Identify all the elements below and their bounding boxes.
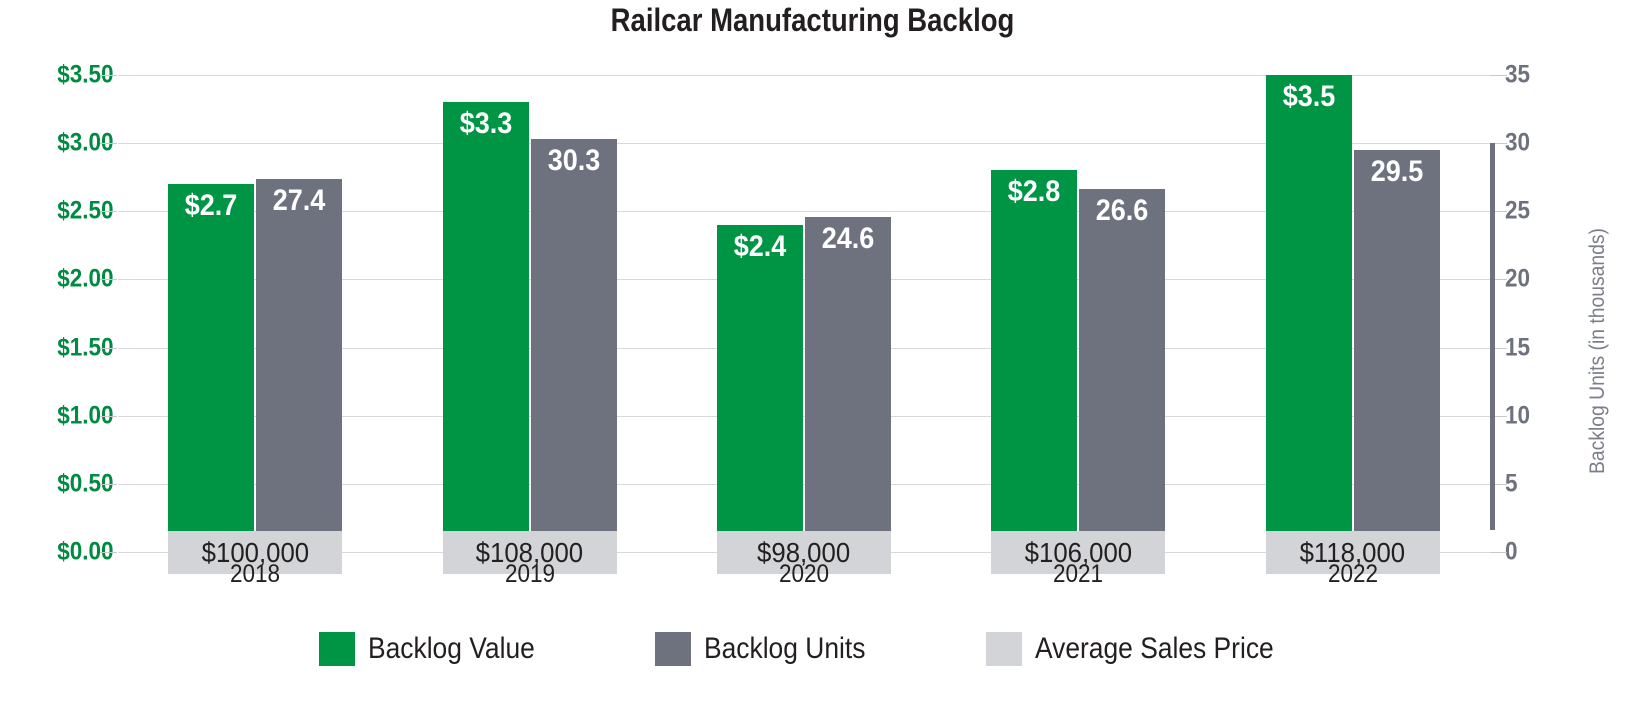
legend-item[interactable]: Backlog Units — [655, 632, 887, 666]
right-axis-tick-label: 10 — [1505, 401, 1530, 430]
legend-swatch-icon — [319, 632, 355, 666]
x-axis-label-2021: 2021 — [1015, 560, 1141, 589]
bar-group: $3.529.5 — [118, 75, 1490, 552]
right-axis-tick-label: 20 — [1505, 265, 1530, 294]
chart-legend: Backlog ValueBacklog UnitsAverage Sales … — [0, 632, 1625, 666]
chart-title: Railcar Manufacturing Backlog — [114, 2, 1512, 39]
bar-value-label: 29.5 — [1358, 156, 1435, 188]
right-axis-tick-label: 35 — [1505, 61, 1530, 90]
left-axis-tick — [100, 211, 117, 212]
legend-label: Backlog Units — [704, 632, 865, 666]
legend-label: Average Sales Price — [1035, 632, 1274, 666]
legend-item[interactable]: Average Sales Price — [986, 632, 1306, 666]
left-axis-tick — [100, 348, 117, 349]
left-axis-tick — [100, 552, 117, 553]
right-axis-tick-label: 25 — [1505, 197, 1530, 226]
right-axis-tick — [1490, 552, 1507, 553]
right-axis-title: Backlog Units (in thousands) — [1586, 203, 1610, 497]
chart-container: Railcar Manufacturing Backlog $2.727.4$1… — [0, 0, 1625, 701]
bar-backlog-value[interactable]: $3.5 — [1266, 75, 1352, 552]
x-axis-label-2022: 2022 — [1290, 560, 1416, 589]
left-axis-tick — [100, 416, 117, 417]
bar-backlog-units[interactable]: 29.5 — [1354, 150, 1440, 552]
legend-item[interactable]: Backlog Value — [319, 632, 558, 666]
left-axis-tick — [100, 279, 117, 280]
right-axis-tick — [1490, 75, 1507, 76]
right-axis-tick-label: 30 — [1505, 129, 1530, 158]
left-axis-tick — [100, 484, 117, 485]
right-axis-tick-label: 15 — [1505, 333, 1530, 362]
plot-area: $2.727.4$100,000$3.330.3$108,000$2.424.6… — [118, 75, 1490, 552]
legend-label: Backlog Value — [368, 632, 535, 666]
legend-swatch-icon — [986, 632, 1022, 666]
x-axis-label-2018: 2018 — [192, 560, 318, 589]
right-axis-spine — [1490, 143, 1495, 530]
legend-swatch-icon — [655, 632, 691, 666]
bar-value-label: $3.5 — [1270, 81, 1347, 113]
x-axis-label-2019: 2019 — [467, 560, 593, 589]
left-axis-tick — [100, 143, 117, 144]
left-axis-tick — [100, 75, 117, 76]
x-axis-label-2020: 2020 — [741, 560, 867, 589]
